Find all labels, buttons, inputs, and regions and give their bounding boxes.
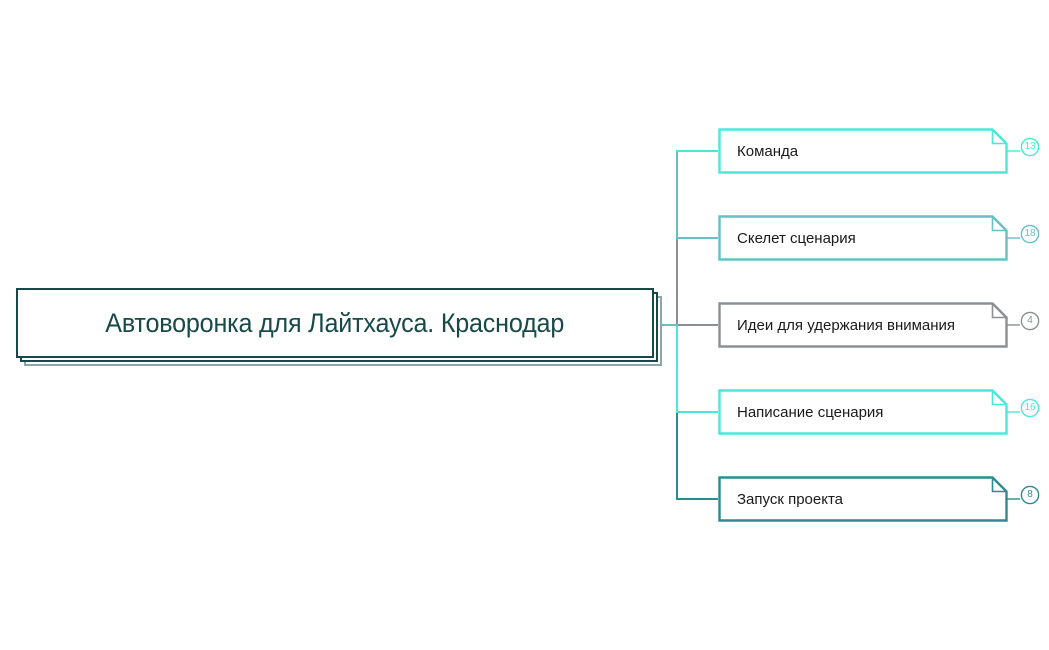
node-label: Идеи для удержания внимания <box>737 302 978 348</box>
node-label: Скелет сценария <box>737 215 978 261</box>
root-node[interactable]: Автоворонка для Лайтхауса. Краснодар <box>16 288 662 366</box>
root-node-front-layer[interactable]: Автоворонка для Лайтхауса. Краснодар <box>16 288 654 358</box>
root-node-title: Автоворонка для Лайтхауса. Краснодар <box>106 308 565 339</box>
mindmap-canvas: Автоворонка для Лайтхауса. Краснодар Ком… <box>0 0 1049 650</box>
mindmap-node[interactable]: Написание сценария16 <box>718 389 1008 435</box>
mindmap-node[interactable]: Скелет сценария18 <box>718 215 1008 261</box>
node-count-badge[interactable]: 13 <box>1020 137 1040 157</box>
node-label: Написание сценария <box>737 389 978 435</box>
badge-count-value: 8 <box>1020 485 1040 505</box>
badge-count-value: 13 <box>1020 137 1040 157</box>
node-label: Команда <box>737 128 978 174</box>
mindmap-node[interactable]: Запуск проекта8 <box>718 476 1008 522</box>
node-label: Запуск проекта <box>737 476 978 522</box>
node-count-badge[interactable]: 16 <box>1020 398 1040 418</box>
mindmap-node[interactable]: Команда13 <box>718 128 1008 174</box>
mindmap-node[interactable]: Идеи для удержания внимания4 <box>718 302 1008 348</box>
node-count-badge[interactable]: 8 <box>1020 485 1040 505</box>
badge-count-value: 18 <box>1020 224 1040 244</box>
node-count-badge[interactable]: 18 <box>1020 224 1040 244</box>
badge-count-value: 16 <box>1020 398 1040 418</box>
node-count-badge[interactable]: 4 <box>1020 311 1040 331</box>
badge-count-value: 4 <box>1020 311 1040 331</box>
